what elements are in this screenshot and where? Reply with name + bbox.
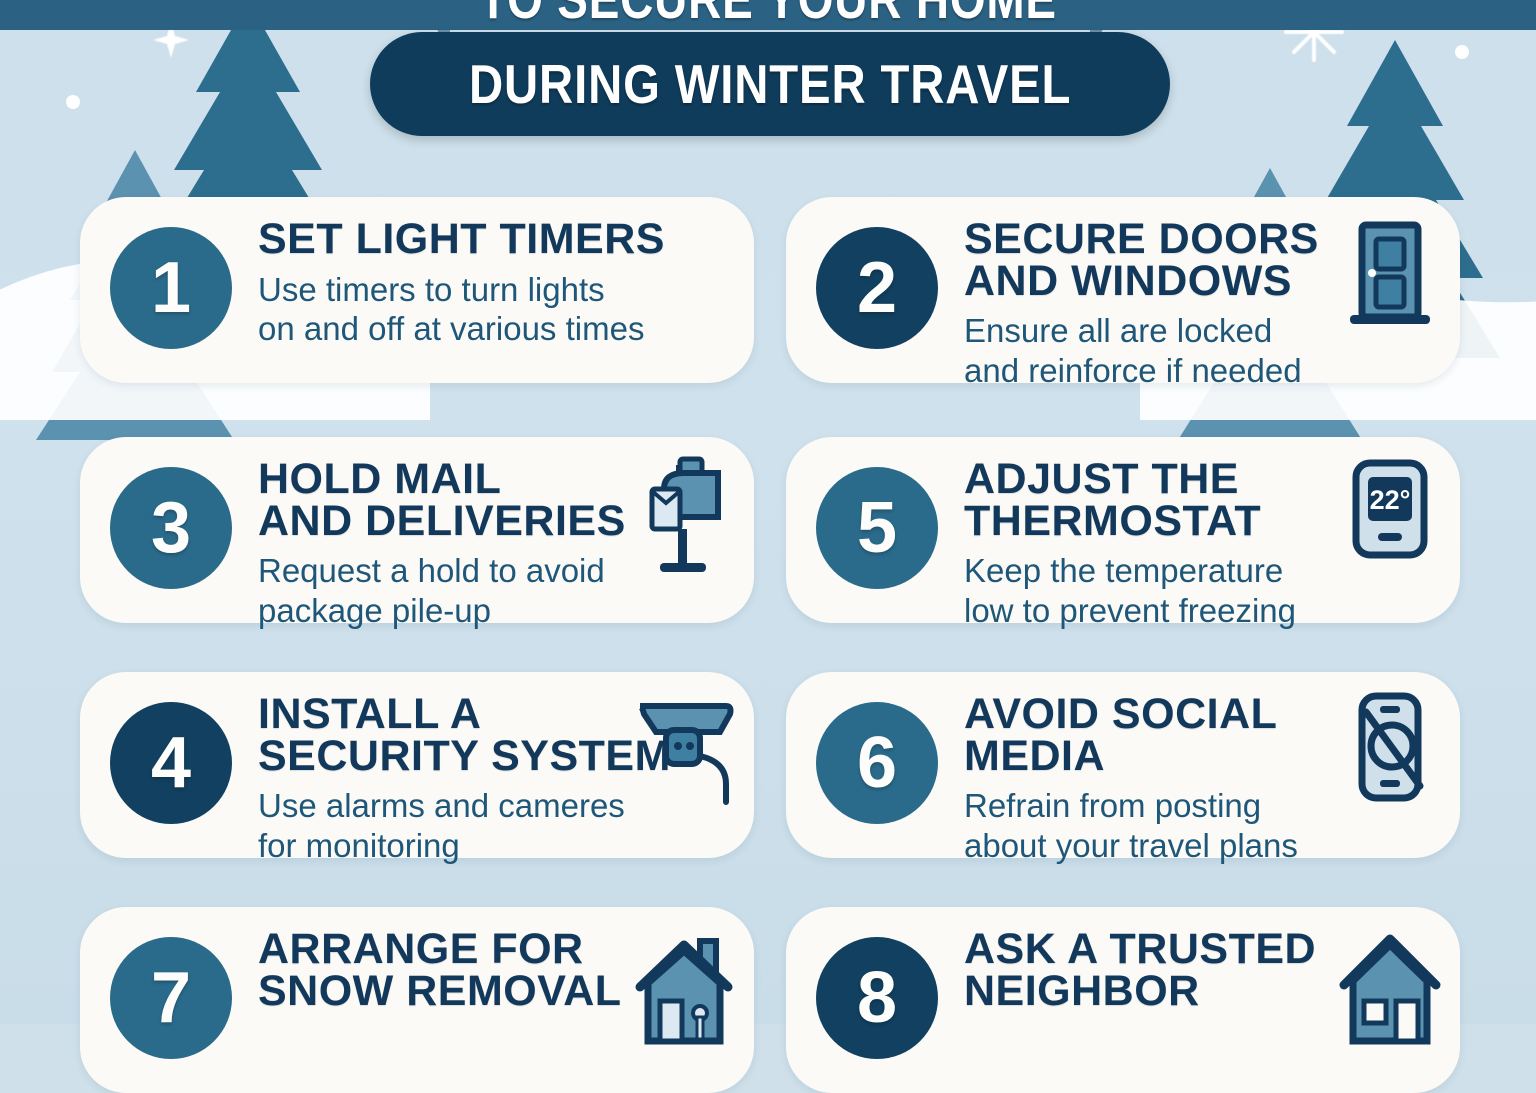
tip-card-4[interactable]: 4 INSTALL A SECURITY SYSTEM Use alarms a…	[80, 672, 754, 858]
tip-title-1: SET LIGHT TIMERS	[258, 219, 728, 261]
tip-content-7: ARRANGE FOR SNOW REMOVAL	[232, 929, 728, 1021]
tip-number-badge-3: 3	[110, 467, 232, 589]
tip-content-3: HOLD MAIL AND DELIVERIES Request a hold …	[232, 459, 728, 631]
tip-number-badge-1: 1	[110, 227, 232, 349]
tip-title-7: ARRANGE FOR SNOW REMOVAL	[258, 929, 728, 1012]
tip-card-2[interactable]: 2 SECURE DOORS AND WINDOWS Ensure all ar…	[786, 197, 1460, 383]
tip-number-badge-4: 4	[110, 702, 232, 824]
tip-number-badge-2: 2	[816, 227, 938, 349]
tip-title-6: AVOID SOCIAL MEDIA	[964, 694, 1434, 777]
tip-card-5[interactable]: 5 ADJUST THE THERMOSTAT Keep the tempera…	[786, 437, 1460, 623]
tip-desc-5: Keep the temperature low to prevent free…	[964, 551, 1434, 630]
tip-desc-6: Refrain from posting about your travel p…	[964, 786, 1434, 865]
tip-number-badge-6: 6	[816, 702, 938, 824]
tip-title-8: ASK A TRUSTED NEIGHBOR	[964, 929, 1434, 1012]
tip-card-6[interactable]: 6 AVOID SOCIAL MEDIA Refrain from postin…	[786, 672, 1460, 858]
tip-title-2: SECURE DOORS AND WINDOWS	[964, 219, 1434, 302]
tip-number-badge-5: 5	[816, 467, 938, 589]
tip-number-badge-8: 8	[816, 937, 938, 1059]
tip-number-badge-7: 7	[110, 937, 232, 1059]
tip-content-4: INSTALL A SECURITY SYSTEM Use alarms and…	[232, 694, 728, 866]
tip-desc-3: Request a hold to avoid package pile-up	[258, 551, 728, 630]
tip-content-8: ASK A TRUSTED NEIGHBOR	[938, 929, 1434, 1021]
tip-desc-4: Use alarms and cameres for monitoring	[258, 786, 728, 865]
tip-content-2: SECURE DOORS AND WINDOWS Ensure all are …	[938, 219, 1434, 391]
tip-card-1[interactable]: 1 SET LIGHT TIMERS Use timers to turn li…	[80, 197, 754, 383]
tip-title-3: HOLD MAIL AND DELIVERIES	[258, 459, 728, 542]
tip-title-4: INSTALL A SECURITY SYSTEM	[258, 694, 728, 777]
tip-content-6: AVOID SOCIAL MEDIA Refrain from posting …	[938, 694, 1434, 866]
tip-content-5: ADJUST THE THERMOSTAT Keep the temperatu…	[938, 459, 1434, 631]
tip-card-8[interactable]: 8 ASK A TRUSTED NEIGHBOR	[786, 907, 1460, 1093]
tip-card-3[interactable]: 3 HOLD MAIL AND DELIVERIES Request a hol…	[80, 437, 754, 623]
tip-desc-1: Use timers to turn lights on and off at …	[258, 270, 728, 349]
tip-content-1: SET LIGHT TIMERS Use timers to turn ligh…	[232, 219, 728, 349]
tip-card-7[interactable]: 7 ARRANGE FOR SNOW REMOVAL	[80, 907, 754, 1093]
tips-grid: 1 SET LIGHT TIMERS Use timers to turn li…	[0, 0, 1536, 1024]
tip-title-5: ADJUST THE THERMOSTAT	[964, 459, 1434, 542]
tip-desc-2: Ensure all are locked and reinforce if n…	[964, 311, 1434, 390]
